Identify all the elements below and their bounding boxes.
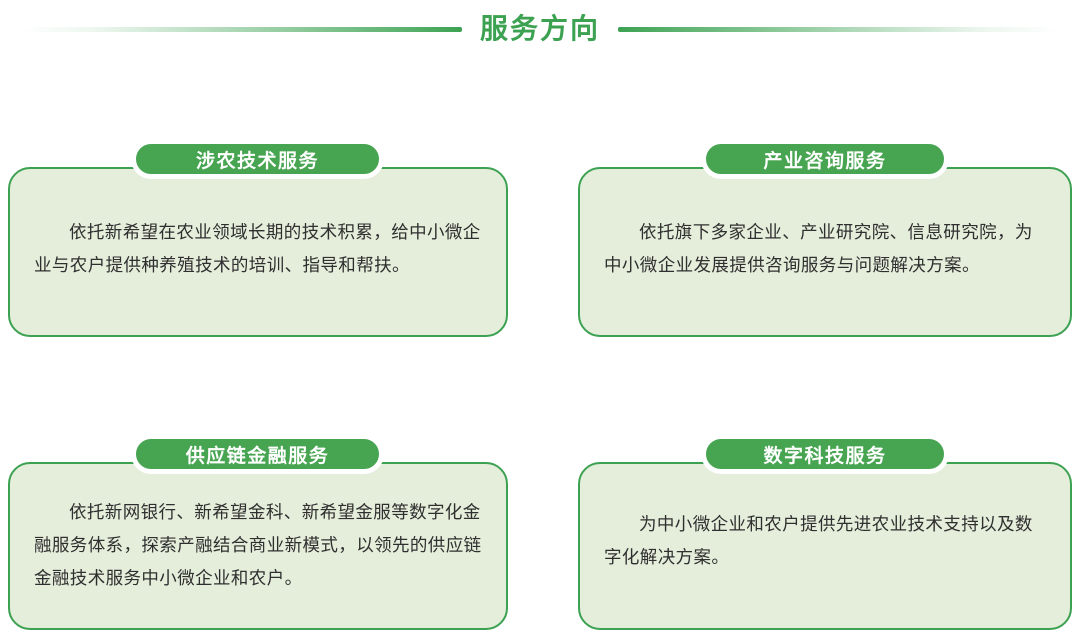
service-card-body-agri-tech: 依托新希望在农业领域长期的技术积累，给中小微企业与农户提供种养殖技术的培训、指导… [8,216,508,282]
service-card-badge-industry-consulting: 产业咨询服务 [701,139,949,179]
page-title: 服务方向 [480,15,600,43]
service-card-badge-agri-tech: 涉农技术服务 [131,139,384,179]
header-rule-left [22,27,462,32]
service-card-badge-digital-tech: 数字科技服务 [701,434,949,474]
service-card-body-digital-tech: 为中小微企业和农户提供先进农业技术支持以及数字化解决方案。 [578,508,1072,574]
section-header: 服务方向 [0,0,1080,58]
service-card-body-industry-consulting: 依托旗下多家企业、产业研究院、信息研究院，为中小微企业发展提供咨询服务与问题解决… [578,216,1072,282]
service-card-body-supply-chain-finance: 依托新网银行、新希望金科、新希望金服等数字化金融服务体系，探索产融结合商业新模式… [8,496,508,595]
header-rule-right [618,27,1058,32]
service-card-badge-supply-chain-finance: 供应链金融服务 [131,434,384,474]
